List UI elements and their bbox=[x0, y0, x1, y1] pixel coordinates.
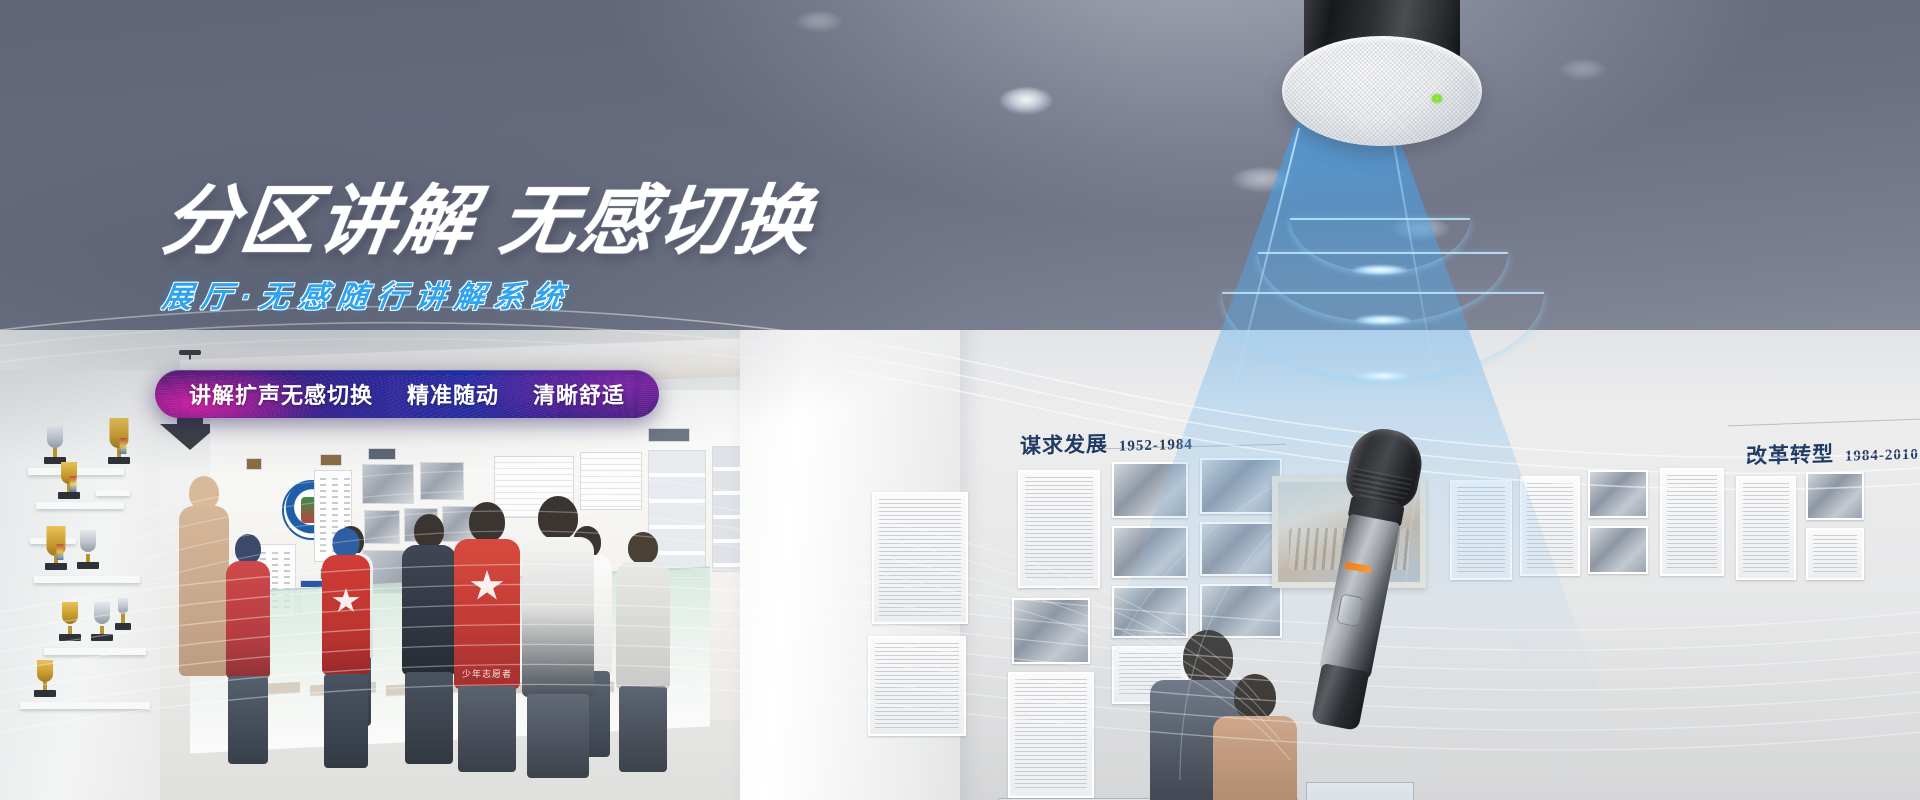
trophy bbox=[56, 462, 82, 504]
exhibit-section-title: 改革转型 1984-2010 bbox=[1746, 436, 1919, 471]
feature-badge: 讲解扩声无感切换 精准随动 清晰舒适 bbox=[155, 370, 659, 418]
page-title: 分区讲解无感切换 bbox=[157, 182, 968, 262]
downlight-icon bbox=[1560, 60, 1606, 80]
exhibit-section-title: 谋求发展 1952-1984 bbox=[1020, 426, 1193, 461]
trophy-shelf bbox=[20, 702, 150, 709]
mic-battery-cap bbox=[1311, 663, 1370, 731]
trophy-wall bbox=[0, 370, 160, 800]
trophy bbox=[88, 602, 116, 648]
ceiling-speaker bbox=[1282, 0, 1482, 154]
exhibit-panel bbox=[1018, 470, 1100, 588]
trophy-shelf bbox=[44, 648, 146, 655]
wall-photo bbox=[420, 462, 464, 500]
visitor bbox=[614, 532, 672, 772]
trophy bbox=[114, 598, 132, 636]
page-subtitle: 展厅·无感随行讲解系统 bbox=[160, 272, 966, 316]
wall-text-panel bbox=[246, 458, 262, 470]
feature-item-3: 清晰舒适 bbox=[533, 378, 625, 410]
wall-text-panel bbox=[368, 448, 396, 460]
vest-label: 少年志愿者 bbox=[462, 667, 512, 680]
visitor: 少年志愿者 bbox=[452, 502, 522, 772]
speaker-grille bbox=[1282, 36, 1482, 146]
wall-text-panel bbox=[320, 454, 342, 466]
downlight-icon bbox=[1000, 88, 1052, 114]
feature-item-1: 讲解扩声无感切换 bbox=[189, 378, 373, 410]
banner-stage: 谋求发展 1952-1984 改革转型 1984-2010 bbox=[0, 0, 1920, 800]
visitor bbox=[520, 496, 596, 776]
trophy bbox=[104, 418, 134, 470]
trophy-shelf bbox=[96, 490, 130, 496]
exhibit-panel bbox=[868, 636, 966, 736]
divider bbox=[1728, 419, 1920, 427]
exhibit-panel bbox=[872, 492, 968, 624]
trophy bbox=[42, 526, 70, 576]
visitor bbox=[320, 528, 372, 768]
headline-part-2: 无感切换 bbox=[495, 179, 819, 264]
exhibit-photo bbox=[1588, 526, 1648, 574]
exhibit-photo bbox=[1012, 598, 1090, 664]
wall-text-panel bbox=[648, 428, 690, 442]
headline-part-1: 分区讲解 bbox=[157, 179, 481, 264]
display-cabinet bbox=[1306, 782, 1414, 800]
trophy bbox=[74, 530, 102, 576]
exhibit-photo bbox=[1806, 472, 1864, 520]
exhibit-photo bbox=[1588, 470, 1648, 518]
exhibit-panel bbox=[1736, 476, 1796, 580]
headline-block: 分区讲解无感切换 展厅·无感随行讲解系统 bbox=[163, 182, 963, 316]
section-title-text: 改革转型 bbox=[1746, 443, 1834, 468]
trophy-shelf bbox=[34, 576, 140, 583]
visitor bbox=[400, 514, 458, 764]
section-title-text: 谋求发展 bbox=[1020, 433, 1108, 458]
feature-item-2: 精准随动 bbox=[407, 378, 499, 410]
trophy bbox=[56, 602, 84, 648]
exhibit-panel bbox=[1806, 528, 1864, 580]
speaker-status-led-icon bbox=[1430, 94, 1444, 103]
exhibit-panel bbox=[1660, 468, 1724, 576]
downlight-icon bbox=[796, 12, 842, 32]
section-years-text: 1984-2010 bbox=[1845, 447, 1919, 465]
trophy bbox=[32, 660, 58, 702]
wall-photo bbox=[362, 464, 414, 504]
visitor bbox=[224, 534, 272, 764]
